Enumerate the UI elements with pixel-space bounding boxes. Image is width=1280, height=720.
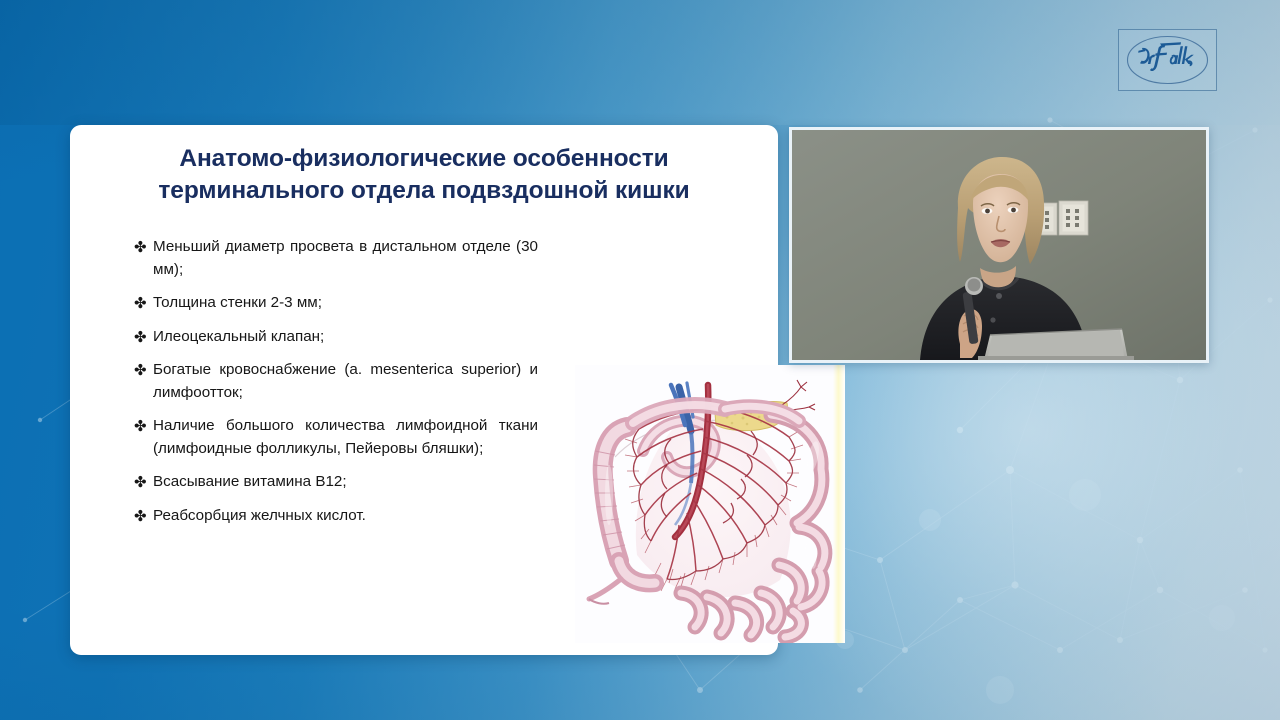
bullet-marker-icon: ✤ [134, 236, 153, 281]
bullet-marker-icon: ✤ [134, 471, 153, 494]
bullet-marker-icon: ✤ [134, 359, 153, 404]
brand-logo [1118, 29, 1217, 91]
presentation-screen: Анатомо-физиологические особенности терм… [0, 0, 1280, 720]
slide-title-line-2: терминального отдела подвздошной кишки [92, 175, 756, 207]
list-item-text: Всасывание витамина В12; [153, 471, 538, 494]
list-item: ✤ Наличие большого количества лимфоидной… [134, 415, 538, 460]
list-item-text: Богатые кровоснабжение (a. mesenterica s… [153, 359, 538, 404]
illustration-edge-tint [833, 365, 845, 643]
list-item: ✤ Реабсорбция желчных кислот. [134, 505, 538, 528]
speaker-video-frame[interactable] [792, 130, 1206, 360]
bullet-marker-icon: ✤ [134, 292, 153, 315]
list-item-text: Илеоцекальный клапан; [153, 326, 538, 349]
list-item: ✤ Меньший диаметр просвета в дистальном … [134, 236, 538, 281]
list-item: ✤ Всасывание витамина В12; [134, 471, 538, 494]
list-item-text: Наличие большого количества лимфоидной т… [153, 415, 538, 460]
slide-card: Анатомо-физиологические особенности терм… [70, 125, 778, 655]
list-item: ✤ Богатые кровоснабжение (a. mesenterica… [134, 359, 538, 404]
list-item: ✤ Илеоцекальный клапан; [134, 326, 538, 349]
list-item: ✤ Толщина стенки 2-3 мм; [134, 292, 538, 315]
bullet-marker-icon: ✤ [134, 415, 153, 460]
list-item-text: Толщина стенки 2-3 мм; [153, 292, 538, 315]
bullet-marker-icon: ✤ [134, 505, 153, 528]
slide-title-line-1: Анатомо-физиологические особенности [92, 143, 756, 175]
speaker-video-panel[interactable] [789, 127, 1209, 363]
list-item-text: Меньший диаметр просвета в дистальном от… [153, 236, 538, 281]
list-item-text: Реабсорбция желчных кислот. [153, 505, 538, 528]
bullet-marker-icon: ✤ [134, 326, 153, 349]
slide-bullet-list: ✤ Меньший диаметр просвета в дистальном … [134, 236, 538, 538]
slide-title: Анатомо-физиологические особенности терм… [92, 143, 756, 207]
anatomy-illustration [575, 365, 845, 643]
